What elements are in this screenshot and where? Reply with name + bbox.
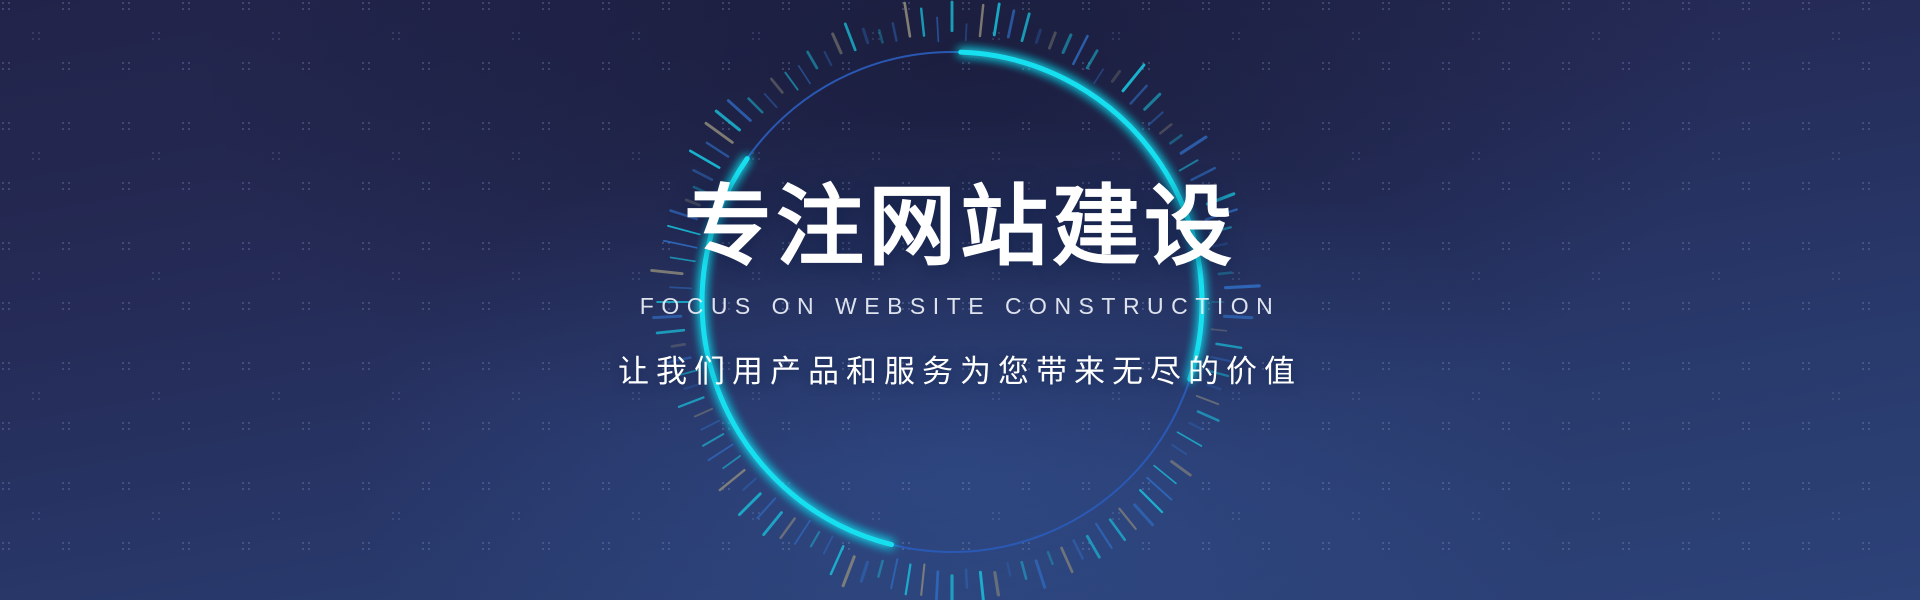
banner-title-en: FOCUS ON WEBSITE CONSTRUCTION [640, 293, 1280, 320]
banner-subtitle-cn: 让我们用产品和服务为您带来无尽的价值 [618, 346, 1302, 391]
banner-content: 专注网站建设 FOCUS ON WEBSITE CONSTRUCTION 让我们… [0, 0, 1920, 600]
hero-banner: 专注网站建设 FOCUS ON WEBSITE CONSTRUCTION 让我们… [0, 0, 1920, 600]
banner-title-cn: 专注网站建设 [684, 183, 1236, 271]
